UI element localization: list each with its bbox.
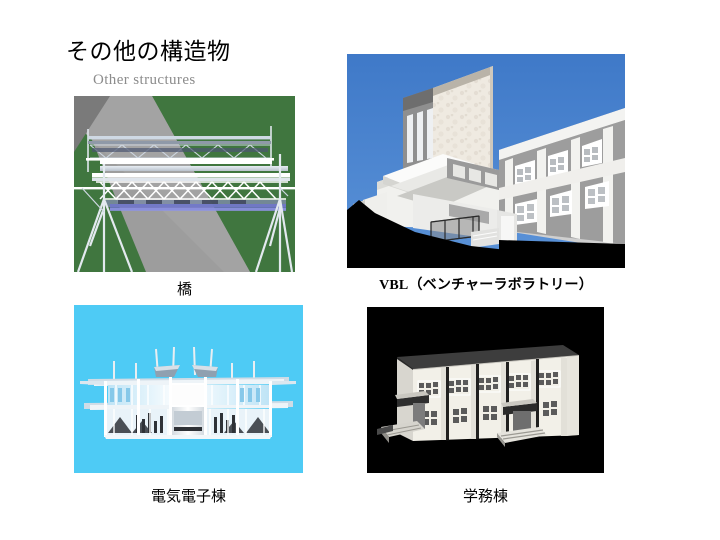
figure-image-bridge — [74, 96, 295, 272]
slide-canvas: その他の構造物 Other structures — [0, 0, 720, 540]
figure-caption-gakumu: 学務棟 — [367, 485, 604, 506]
page-title: その他の構造物 — [66, 32, 231, 66]
figure-caption-bridge: 橋 — [74, 278, 295, 299]
figure-image-electrical — [74, 305, 303, 473]
page-subtitle: Other structures — [93, 72, 196, 89]
figure-image-gakumu — [367, 307, 604, 473]
figure-caption-electrical: 電気電子棟 — [74, 485, 303, 506]
figure-image-vbl — [347, 54, 625, 268]
figure-caption-vbl: VBL（ベンチャーラボラトリー） — [347, 274, 625, 294]
